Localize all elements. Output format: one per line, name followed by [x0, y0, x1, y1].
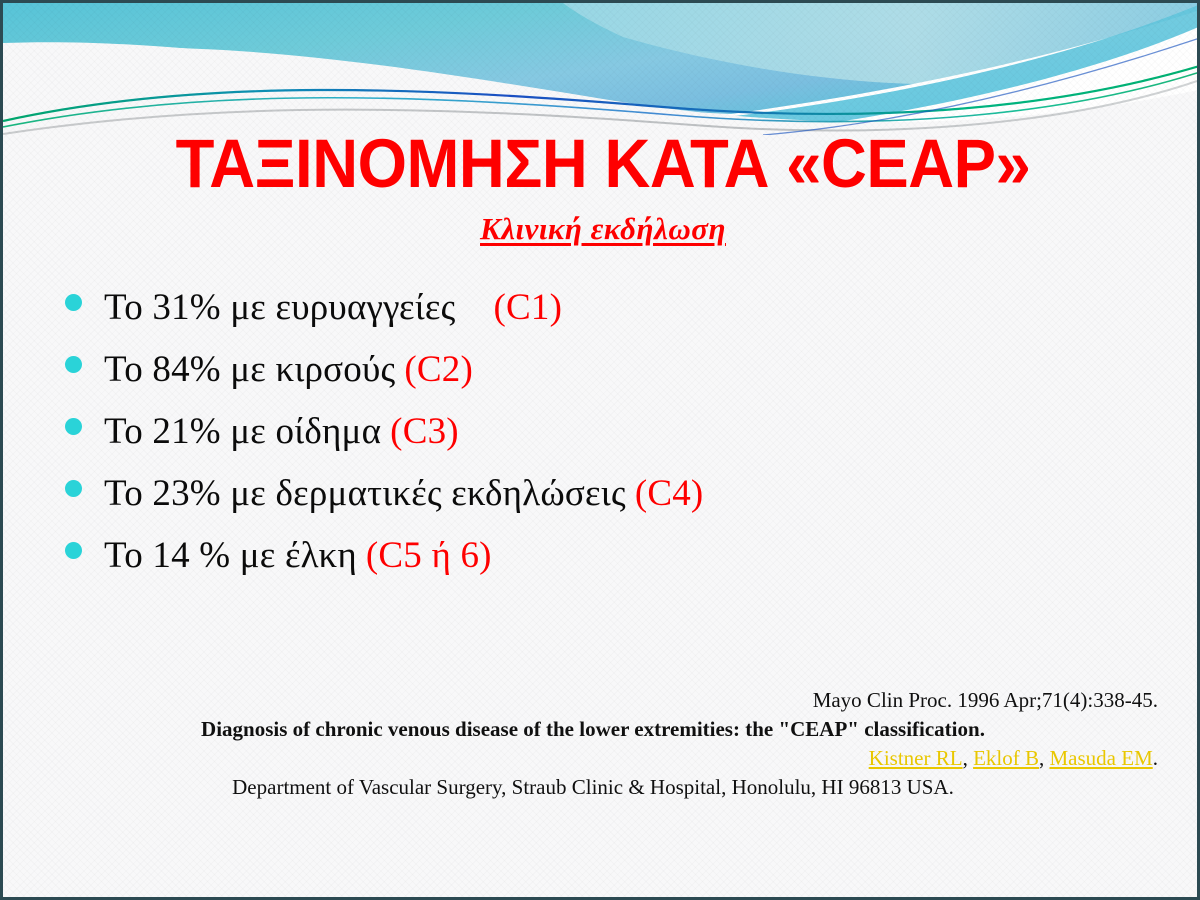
- list-item: Το 14 % με έλκη (C5 ή 6): [65, 534, 1145, 596]
- bullet-text: Το 14 % με έλκη: [104, 534, 357, 577]
- ceap-class-code: (C2): [404, 348, 473, 391]
- bullet-dot-icon: [65, 294, 82, 311]
- bullet-text: Το 84% με κιρσούς: [104, 348, 395, 391]
- list-item: Το 23% με δερματικές εκδηλώσεις (C4): [65, 472, 1145, 534]
- bullet-text: Το 23% με δερματικές εκδηλώσεις: [104, 472, 626, 515]
- presentation-slide: ΤΑΞΙΝΟΜΗΣΗ ΚΑΤΑ «CEAP» Κλινική εκδήλωση …: [0, 0, 1200, 900]
- citation-journal: Mayo Clin Proc. 1996 Apr;71(4):338-45.: [3, 686, 1158, 715]
- author-link-3[interactable]: Masuda EM: [1050, 746, 1153, 770]
- bullet-text: Το 21% με οίδημα: [104, 410, 381, 453]
- page-title: ΤΑΞΙΝΟΜΗΣΗ ΚΑΤΑ «CEAP»: [51, 129, 1155, 199]
- title-block: ΤΑΞΙΝΟΜΗΣΗ ΚΑΤΑ «CEAP» Κλινική εκδήλωση: [3, 129, 1200, 247]
- bullet-dot-icon: [65, 480, 82, 497]
- author-separator-3: .: [1153, 746, 1158, 770]
- author-link-1[interactable]: Kistner RL: [869, 746, 963, 770]
- bullet-dot-icon: [65, 356, 82, 373]
- bullet-text: Το 31% με ευρυαγγείες: [104, 286, 455, 329]
- ceap-class-code: (C1): [493, 286, 562, 329]
- ceap-class-code: (C3): [390, 410, 459, 453]
- page-subtitle: Κλινική εκδήλωση: [3, 211, 1200, 247]
- author-link-2[interactable]: Eklof B: [973, 746, 1039, 770]
- list-item: Το 31% με ευρυαγγείες (C1): [65, 286, 1145, 348]
- citation-article-title: Diagnosis of chronic venous disease of t…: [3, 715, 1158, 744]
- bullet-dot-icon: [65, 542, 82, 559]
- bullet-dot-icon: [65, 418, 82, 435]
- list-item: Το 21% με οίδημα (C3): [65, 410, 1145, 472]
- citation-authors: Kistner RL, Eklof B, Masuda EM.: [3, 744, 1158, 773]
- bullet-list: Το 31% με ευρυαγγείες (C1) Το 84% με κιρ…: [65, 286, 1145, 596]
- decorative-wave-banner: [3, 3, 1200, 135]
- author-separator-2: ,: [1039, 746, 1050, 770]
- author-separator-1: ,: [963, 746, 974, 770]
- citation-department: Department of Vascular Surgery, Straub C…: [3, 773, 1158, 802]
- list-item: Το 84% με κιρσούς (C2): [65, 348, 1145, 410]
- ceap-class-code: (C4): [635, 472, 704, 515]
- citation-block: Mayo Clin Proc. 1996 Apr;71(4):338-45. D…: [3, 686, 1158, 802]
- ceap-class-code: (C5 ή 6): [366, 534, 492, 577]
